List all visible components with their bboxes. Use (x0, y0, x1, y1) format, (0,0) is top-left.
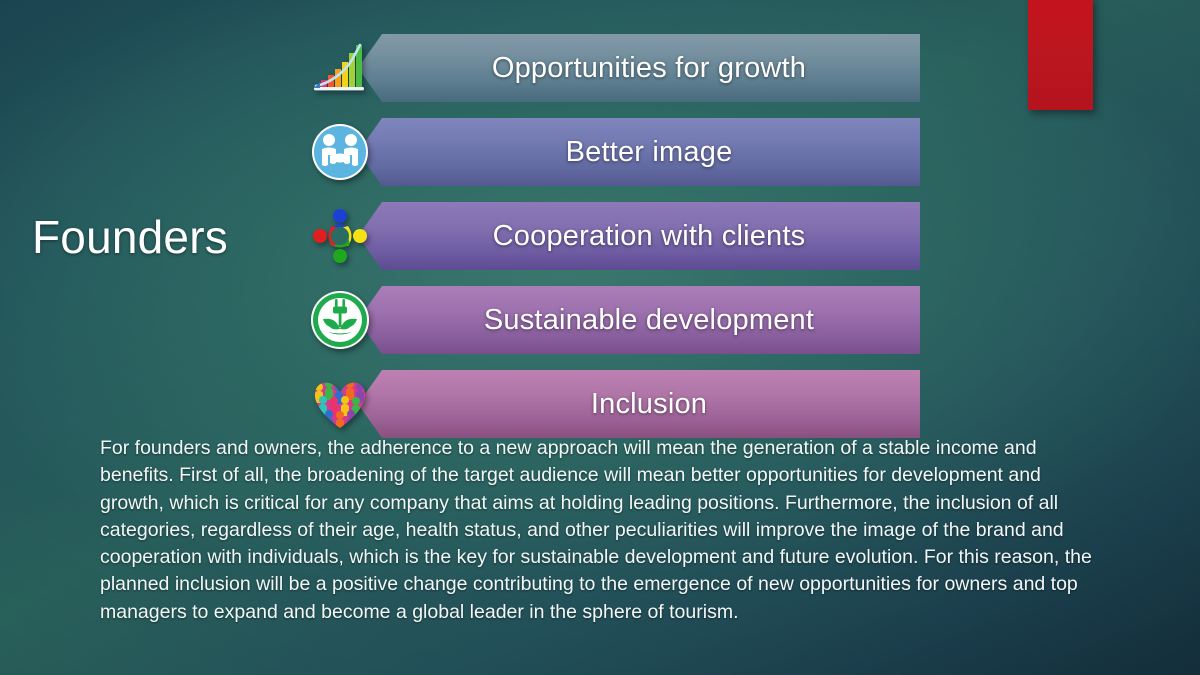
page-title: Founders (32, 212, 292, 263)
list-item[interactable]: Inclusion (300, 370, 940, 438)
chevron-list: Opportunities for growth (300, 34, 940, 454)
chevron-label: Cooperation with clients (473, 220, 806, 253)
chevron-bar-2[interactable]: Better image (358, 118, 920, 186)
chevron-bar-1[interactable]: Opportunities for growth (358, 34, 920, 102)
puzzle-heart-people-icon (308, 372, 372, 436)
chevron-label: Sustainable development (464, 304, 814, 337)
list-item[interactable]: Sustainable development (300, 286, 940, 354)
list-item[interactable]: Cooperation with clients (300, 202, 940, 270)
list-item[interactable]: Better image (300, 118, 940, 186)
chevron-bar-4[interactable]: Sustainable development (358, 286, 920, 354)
chevron-label: Opportunities for growth (472, 52, 806, 85)
chevron-bar-5[interactable]: Inclusion (358, 370, 920, 438)
list-item[interactable]: Opportunities for growth (300, 34, 940, 102)
handshake-icon (308, 120, 372, 184)
red-accent-block (1028, 0, 1093, 110)
chevron-bar-3[interactable]: Cooperation with clients (358, 202, 920, 270)
chevron-label: Better image (546, 136, 733, 169)
teamwork-circle-icon (308, 204, 372, 268)
eco-plug-plant-icon (308, 288, 372, 352)
presentation-slide: Founders Opportunities for growth (0, 0, 1200, 675)
body-paragraph: For founders and owners, the adherence t… (100, 435, 1100, 626)
chevron-label: Inclusion (571, 388, 707, 421)
growth-chart-icon (308, 36, 372, 100)
